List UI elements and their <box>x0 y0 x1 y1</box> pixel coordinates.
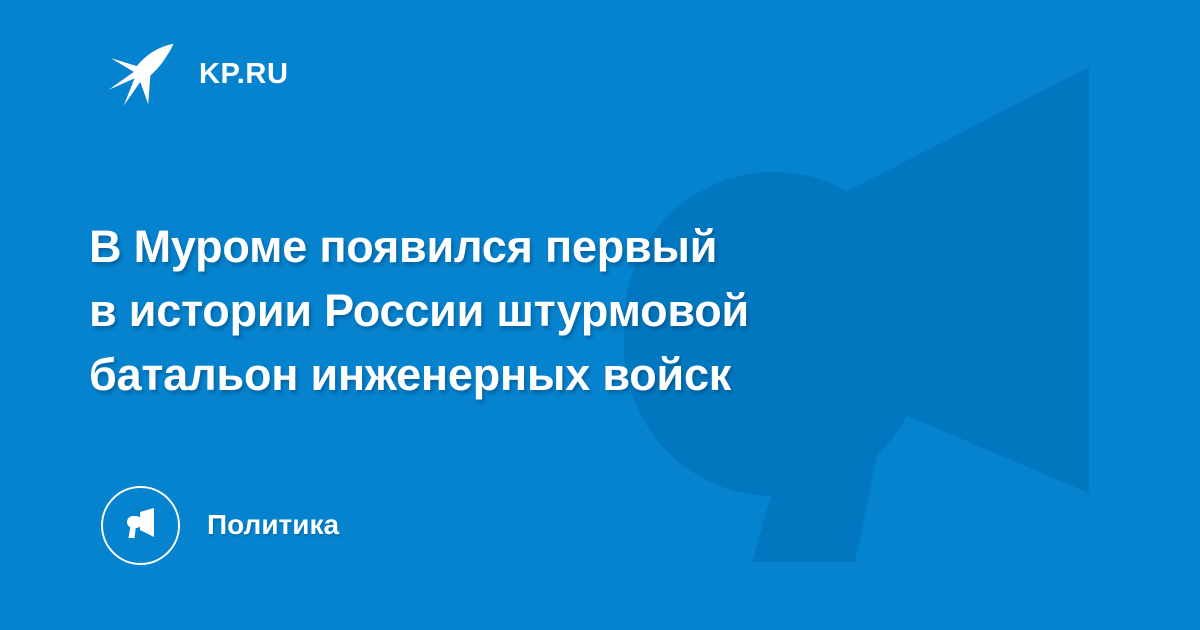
category-icon-circle <box>101 486 180 565</box>
brand-name: KP.RU <box>199 60 289 89</box>
headline-line-3: батальон инженерных войск <box>89 343 989 407</box>
social-share-card: KP.RU В Муроме появился первый в истории… <box>0 0 1200 630</box>
megaphone-icon <box>120 504 162 546</box>
headline-line-1: В Муроме появился первый <box>89 215 989 279</box>
category-label: Политика <box>207 511 339 539</box>
headline-line-2: в истории России штурмовой <box>89 279 989 343</box>
page-title: В Муроме появился первый в истории Росси… <box>89 215 989 407</box>
brand-logo[interactable]: KP.RU <box>105 38 289 110</box>
swallow-bird-icon <box>105 38 177 110</box>
category-badge[interactable]: Политика <box>101 485 339 565</box>
